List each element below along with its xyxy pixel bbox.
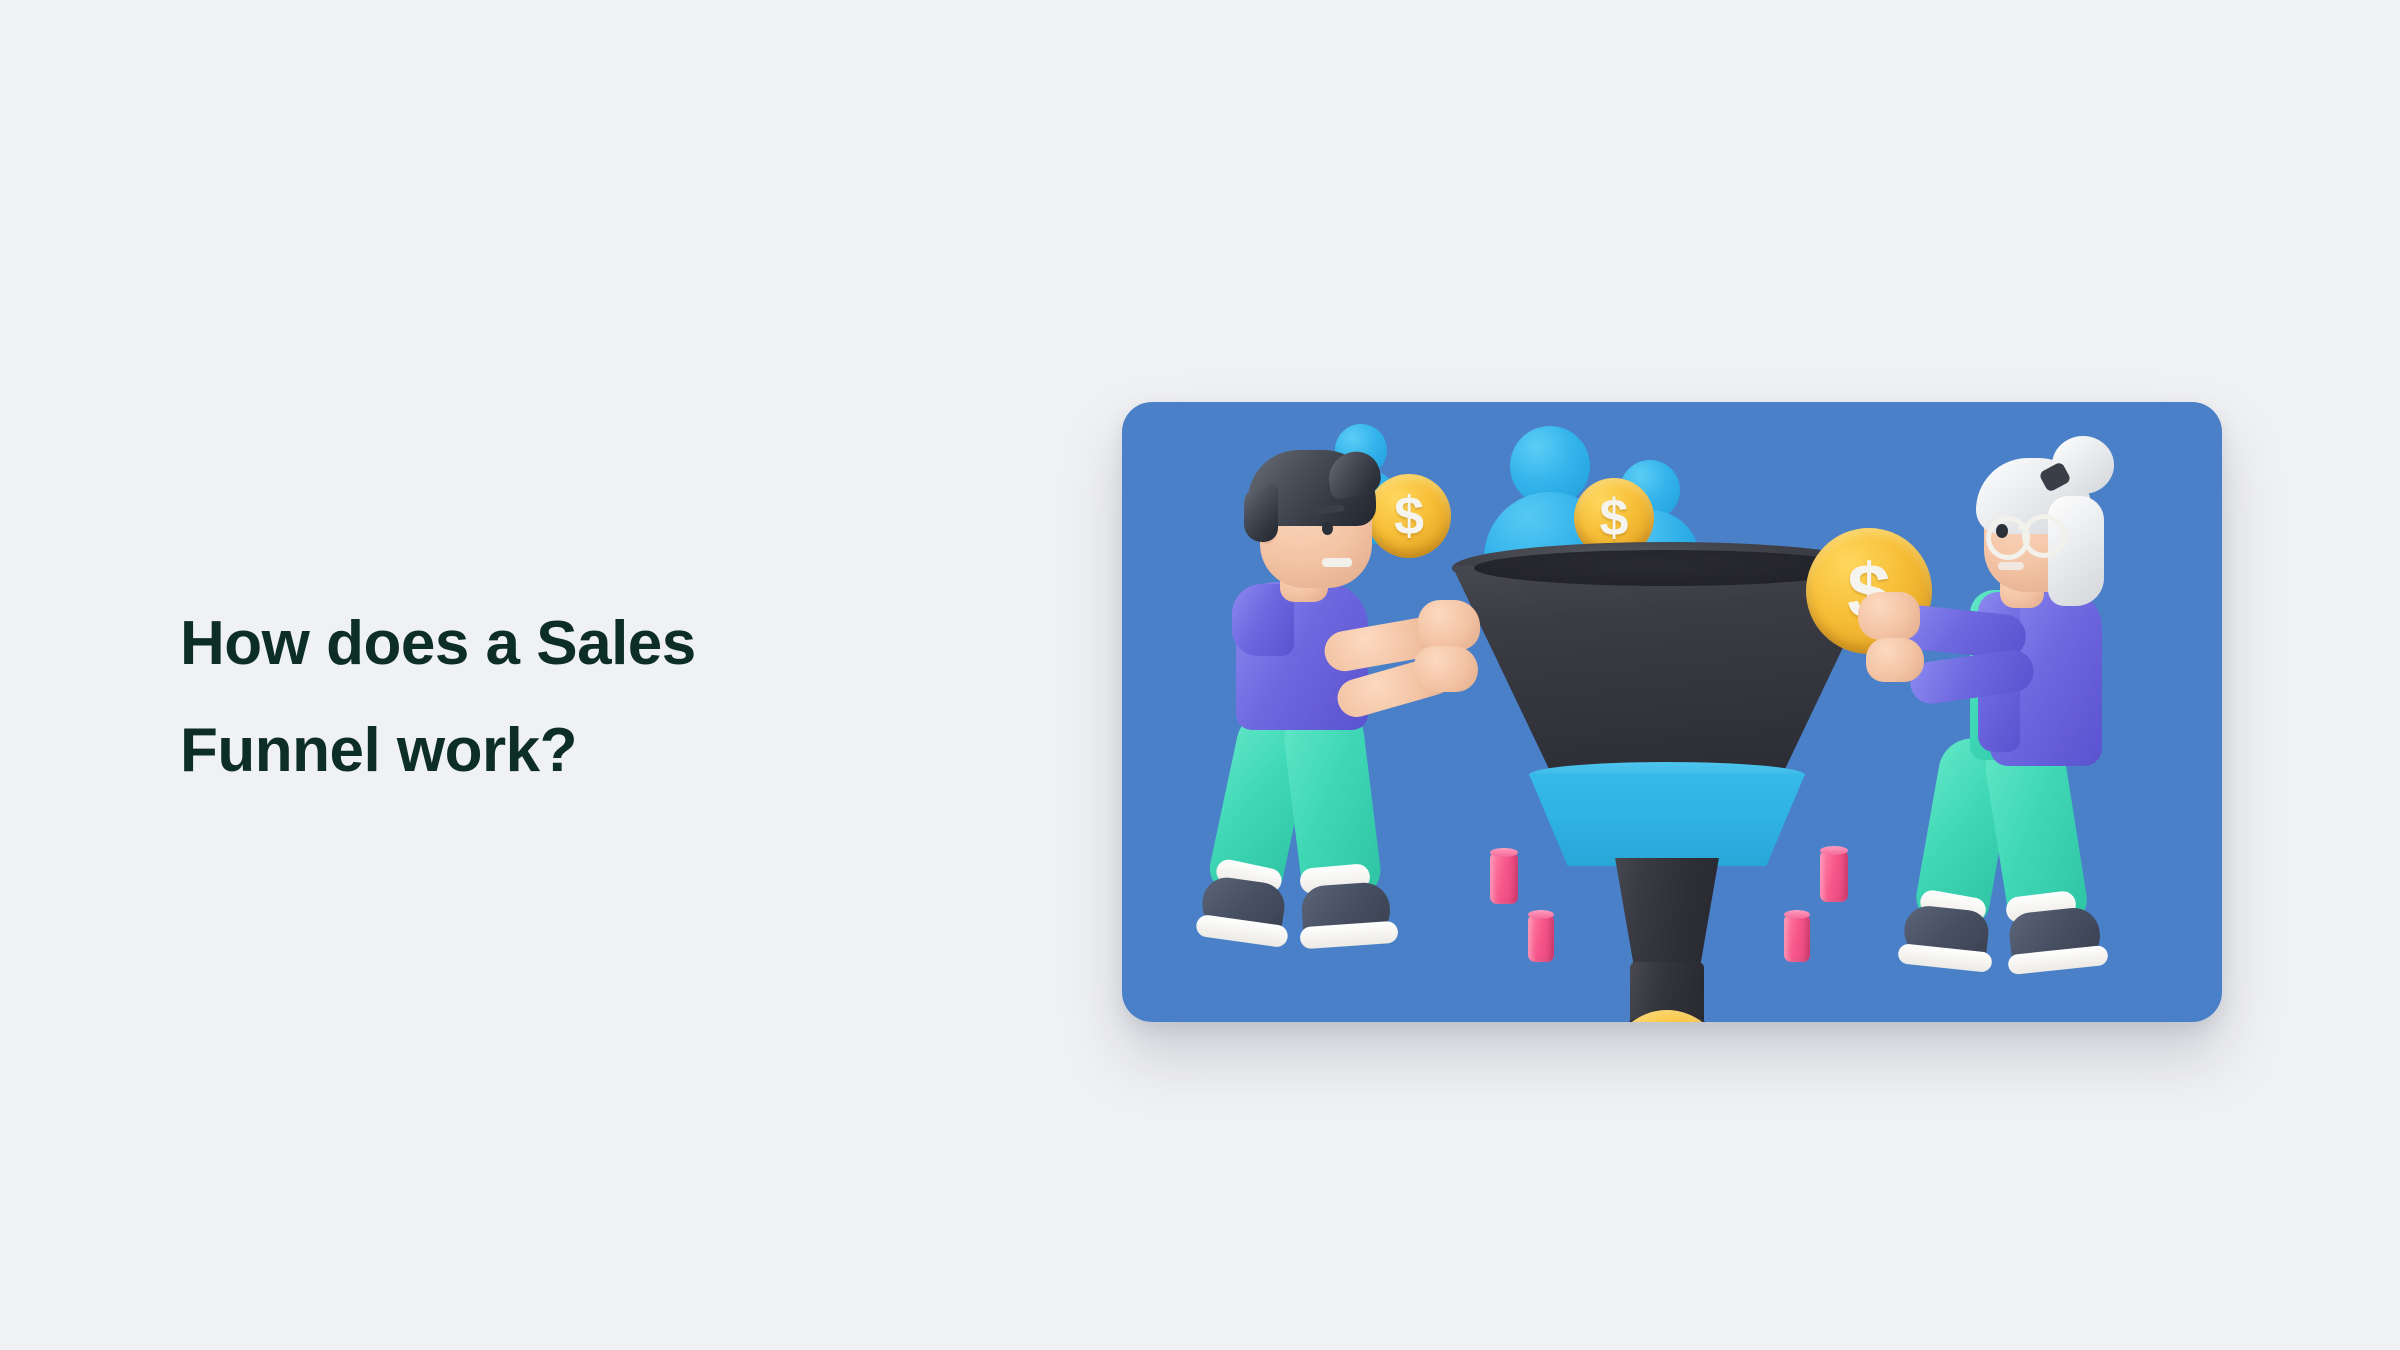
woman-hand-lower bbox=[1866, 638, 1924, 682]
woman-eye bbox=[1996, 524, 2008, 538]
glasses-icon bbox=[2022, 514, 2066, 558]
man-mouth bbox=[1322, 558, 1352, 567]
illustration-card: $ $ bbox=[1122, 402, 2222, 1022]
funnel-band bbox=[1529, 774, 1805, 866]
man-eye bbox=[1322, 522, 1333, 535]
man-hand-lower bbox=[1414, 646, 1478, 692]
woman-mouth bbox=[1998, 562, 2024, 570]
dollar-coin: $ bbox=[1610, 1010, 1724, 1022]
woman-hand-upper bbox=[1858, 592, 1920, 640]
woman-holding-coin: $ bbox=[1892, 442, 2192, 1002]
pink-accent-block bbox=[1820, 850, 1848, 902]
glasses-bridge-icon bbox=[2018, 526, 2028, 531]
page-title-line-1: How does a Sales bbox=[180, 590, 1000, 697]
man-hand-upper bbox=[1418, 600, 1480, 650]
pink-accent-block bbox=[1490, 852, 1518, 904]
page-root: How does a Sales Funnel work? $ bbox=[0, 0, 2400, 1350]
page-title-line-2: Funnel work? bbox=[180, 697, 1000, 804]
sales-funnel-illustration: $ $ bbox=[1122, 402, 2222, 1022]
funnel-rim-inner bbox=[1474, 550, 1860, 586]
pink-accent-block bbox=[1784, 914, 1810, 962]
sales-funnel: $ bbox=[1452, 462, 1882, 1022]
pink-accent-block bbox=[1528, 914, 1554, 962]
page-title: How does a Sales Funnel work? bbox=[180, 590, 1000, 804]
man-pushing-lead bbox=[1218, 432, 1488, 992]
man-hair-side bbox=[1244, 484, 1278, 542]
